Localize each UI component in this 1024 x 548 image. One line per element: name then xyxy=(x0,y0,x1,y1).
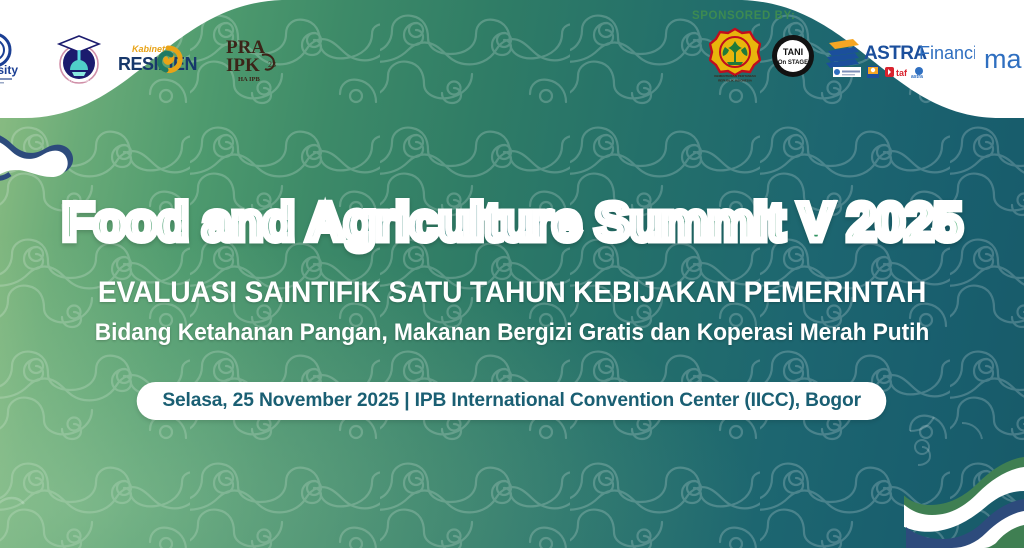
svg-text:INSTITUT PERTANIAN BOGOR: INSTITUT PERTANIAN BOGOR xyxy=(56,79,103,83)
kementan-caption-2: REPUBLIK INDONESIA xyxy=(718,79,753,83)
kementan-caption-1: KEMENTERIAN PERTANIAN xyxy=(714,74,756,78)
svg-text:taf: taf xyxy=(896,68,908,78)
ipk-label: IPK xyxy=(226,55,260,76)
cloud-motif-bottom-right-icon xyxy=(904,413,1024,548)
page-title: Food and Agriculture Summit V 2025 xyxy=(5,196,1019,249)
ipb-university-logo: ersity xyxy=(0,32,42,86)
sponsor-logos: KEMENTERIAN PERTANIAN REPUBLIK INDONESIA… xyxy=(677,26,1024,86)
astra-brand-label: ASTRA xyxy=(864,43,927,64)
sponsor-section: SPONSORED BY: KEMENTERIAN PERTANIAN REPU… xyxy=(677,10,1024,86)
partner-cut-label: ma xyxy=(984,44,1022,74)
tani-on-stage-logo: TANI On STAGE xyxy=(770,33,816,79)
kabinet-resilien-logo: Kabinet RESILIEN xyxy=(116,36,214,82)
date-venue-pill: Selasa, 25 November 2025 | IPB Internati… xyxy=(137,382,887,420)
cloud-motif-bottom-left-icon xyxy=(0,478,60,548)
svg-text:astra: astra xyxy=(911,74,923,80)
ipb-university-label: ersity xyxy=(0,63,18,77)
subtitle-primary: EVALUASI SAINTIFIK SATU TAHUN KEBIJAKAN … xyxy=(31,276,994,310)
ha-ipb-label: HA IPB xyxy=(238,76,261,83)
event-banner: ersity INSTITUT PERTANIAN BOGOR Kabinet … xyxy=(0,0,1024,548)
title-block: Food and Agriculture Summit V 2025 xyxy=(0,196,1024,249)
svg-text:23: 23 xyxy=(268,60,276,69)
organizer-logos: ersity INSTITUT PERTANIAN BOGOR Kabinet … xyxy=(0,28,284,90)
partner-logo-cut: ma xyxy=(984,34,1024,78)
ipb-seal-logo: INSTITUT PERTANIAN BOGOR xyxy=(52,30,106,88)
date-venue-wrap: Selasa, 25 November 2025 | IPB Internati… xyxy=(0,382,1024,420)
resilien-sublabel: Kabinet xyxy=(132,44,166,54)
tani-label: TANI xyxy=(783,47,803,57)
kementerian-pertanian-logo: KEMENTERIAN PERTANIAN REPUBLIK INDONESIA xyxy=(709,27,761,85)
astra-suffix-label: Financial xyxy=(919,43,975,63)
sponsored-by-heading: SPONSORED BY: xyxy=(692,10,1024,22)
subtitle-secondary: Bidang Ketahanan Pangan, Makanan Bergizi… xyxy=(26,319,999,347)
pra-ipk-logo: PRA IPK 23 HA IPB xyxy=(224,33,284,85)
on-stage-label: On STAGE xyxy=(778,60,808,66)
astra-financial-logo: ASTRA Financial taf astra xyxy=(825,31,975,81)
